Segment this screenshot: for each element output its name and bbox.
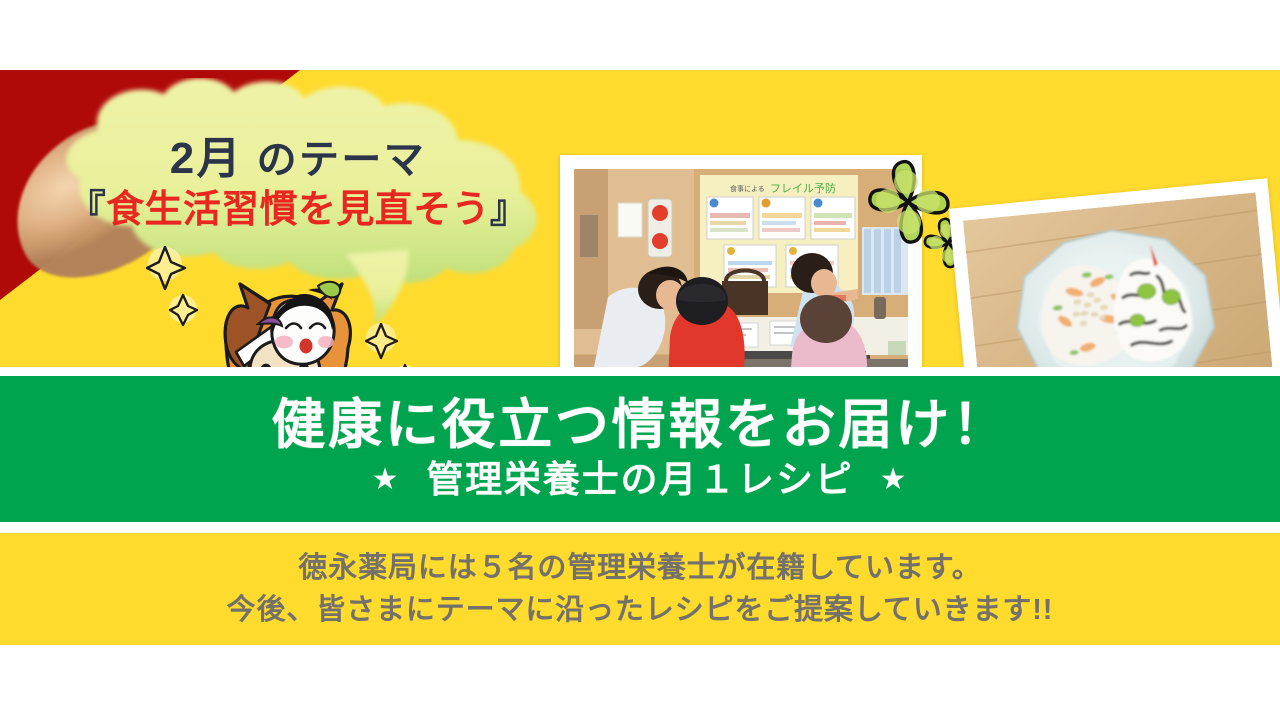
theme-month: 2月 — [170, 134, 243, 183]
star-right-icon: ★ — [880, 465, 909, 495]
photo-image-area: 食事による フレイル予防 — [574, 169, 908, 367]
svg-text:フレイル予防: フレイル予防 — [770, 181, 836, 195]
theme-title: 食生活習慣を見直そう — [106, 189, 490, 231]
theme-title-line: 『食生活習慣を見直そう』 — [28, 178, 568, 233]
banner-subline-row: ★ 管理栄養士の月１レシピ ★ — [372, 460, 909, 501]
theme-suffix: のテーマ — [257, 138, 427, 182]
bottom-white-margin — [0, 645, 1280, 720]
onigiri-recipe-photo — [949, 178, 1280, 367]
top-white-margin — [0, 0, 1280, 70]
bracket-open: 『 — [68, 189, 106, 231]
hero-section: 2月 のテーマ 『食生活習慣を見直そう』 — [0, 70, 1280, 367]
green-banner: 健康に役立つ情報をお届け！ ★ 管理栄養士の月１レシピ ★ — [0, 376, 1280, 522]
note-line-1: 徳永薬局には５名の管理栄養士が在籍しています。 — [298, 550, 981, 586]
theme-month-line: 2月 のテーマ — [28, 122, 568, 186]
bracket-close: 』 — [490, 189, 528, 231]
banner-subline: 管理栄養士の月１レシピ — [426, 460, 853, 501]
svg-text:食事による: 食事による — [730, 184, 765, 193]
banner-headline: 健康に役立つ情報をお届け！ — [271, 397, 1008, 454]
mascot-character — [196, 278, 366, 367]
note-banner: 徳永薬局には５名の管理栄養士が在籍しています。 今後、皆さまにテーマに沿ったレシ… — [0, 533, 1280, 645]
separator-below-green — [0, 522, 1280, 533]
photo-image-area — [963, 192, 1277, 367]
separator-above-green — [0, 367, 1280, 376]
sparkle-icon — [364, 322, 400, 367]
note-line-2: 今後、皆さまにテーマに沿ったレシピをご提案していきます!! — [227, 592, 1054, 628]
star-left-icon: ★ — [372, 465, 401, 495]
poster-canvas: 2月 のテーマ 『食生活習慣を見直そう』 — [0, 0, 1280, 720]
